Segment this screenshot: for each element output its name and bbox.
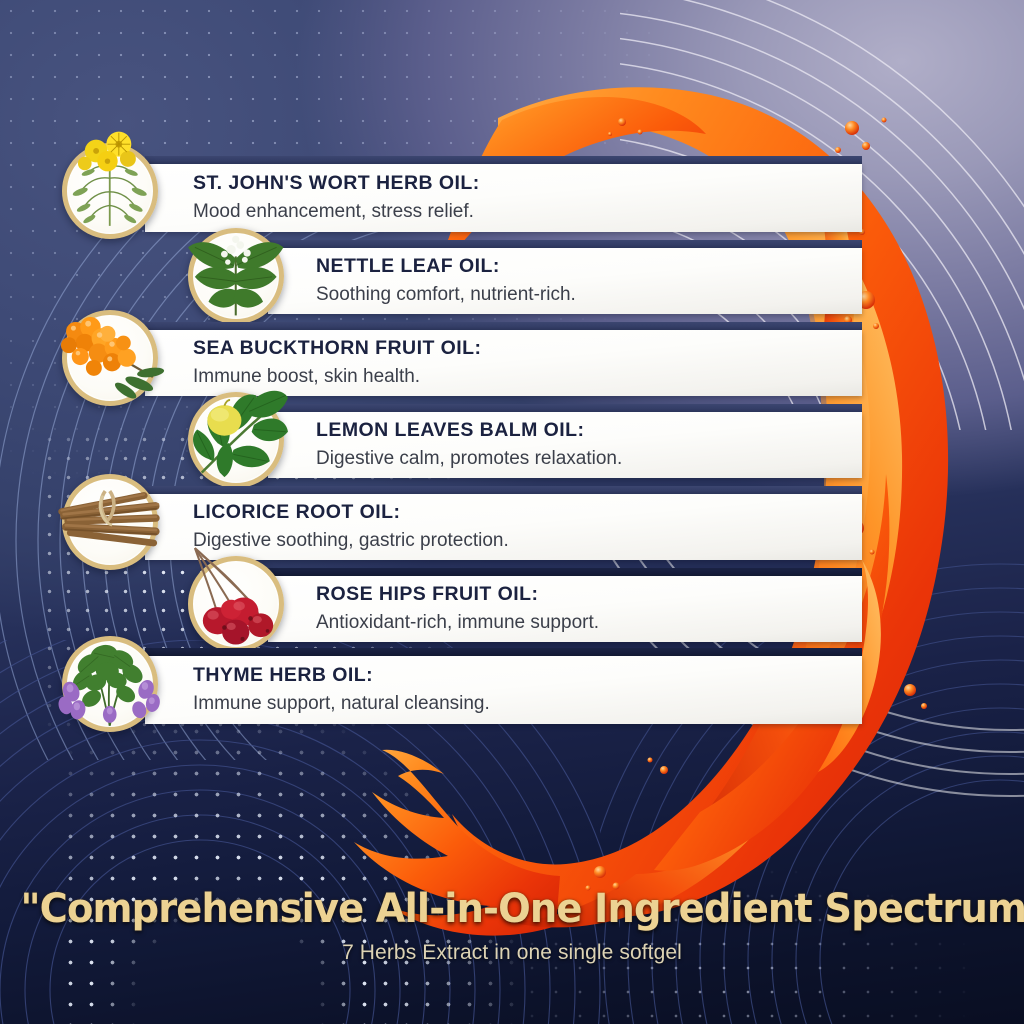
lemon-balm-icon bbox=[188, 392, 284, 488]
ingredient-title: SEA BUCKTHORN FRUIT OIL: bbox=[193, 337, 850, 360]
ingredient-description: Immune support, natural cleansing. bbox=[193, 693, 850, 716]
lemon-balm-icon-art bbox=[179, 375, 293, 489]
ingredient-title: THYME HERB OIL: bbox=[193, 664, 850, 687]
ingredient-text-block: THYME HERB OIL:Immune support, natural c… bbox=[193, 656, 850, 724]
headline-text: "Comprehensive All-in-One Ingredient Spe… bbox=[20, 886, 1003, 932]
ingredient-description: Soothing comfort, nutrient-rich. bbox=[316, 284, 850, 307]
ingredient-text-block: NETTLE LEAF OIL:Soothing comfort, nutrie… bbox=[316, 248, 850, 314]
nettle-leaf-icon-art bbox=[179, 211, 293, 325]
ingredient-title: NETTLE LEAF OIL: bbox=[316, 255, 850, 278]
ingredient-title: ROSE HIPS FRUIT OIL: bbox=[316, 583, 850, 606]
tagline-text: 7 Herbs Extract in one single softgel bbox=[0, 941, 1024, 965]
sea-buckthorn-icon-art bbox=[53, 293, 167, 407]
rose-hips-icon-art bbox=[179, 539, 293, 653]
ingredient-list: ST. JOHN'S WORT HERB OIL:Mood enhancemen… bbox=[0, 0, 1024, 1024]
bottom-caption: "Comprehensive All-in-One Ingredient Spe… bbox=[0, 886, 1024, 965]
ingredient-text-block: ROSE HIPS FRUIT OIL:Antioxidant-rich, im… bbox=[316, 576, 850, 642]
ingredient-description: Antioxidant-rich, immune support. bbox=[316, 612, 850, 635]
ingredient-text-block: LEMON LEAVES BALM OIL:Digestive calm, pr… bbox=[316, 412, 850, 478]
thyme-herb-icon-art bbox=[53, 619, 167, 733]
ingredient-title: ST. JOHN'S WORT HERB OIL: bbox=[193, 172, 850, 195]
ingredient-title: LEMON LEAVES BALM OIL: bbox=[316, 419, 850, 442]
ingredient-description: Digestive calm, promotes relaxation. bbox=[316, 448, 850, 471]
sea-buckthorn-icon bbox=[62, 310, 158, 406]
nettle-leaf-icon bbox=[188, 228, 284, 324]
rose-hips-icon bbox=[188, 556, 284, 652]
thyme-herb-icon bbox=[62, 636, 158, 732]
licorice-root-icon-art bbox=[53, 457, 167, 571]
ingredient-infographic-poster: ST. JOHN'S WORT HERB OIL:Mood enhancemen… bbox=[0, 0, 1024, 1024]
ingredient-title: LICORICE ROOT OIL: bbox=[193, 501, 850, 524]
st-johns-wort-icon-art bbox=[53, 126, 167, 240]
licorice-root-icon bbox=[62, 474, 158, 570]
st-johns-wort-icon bbox=[62, 143, 158, 239]
